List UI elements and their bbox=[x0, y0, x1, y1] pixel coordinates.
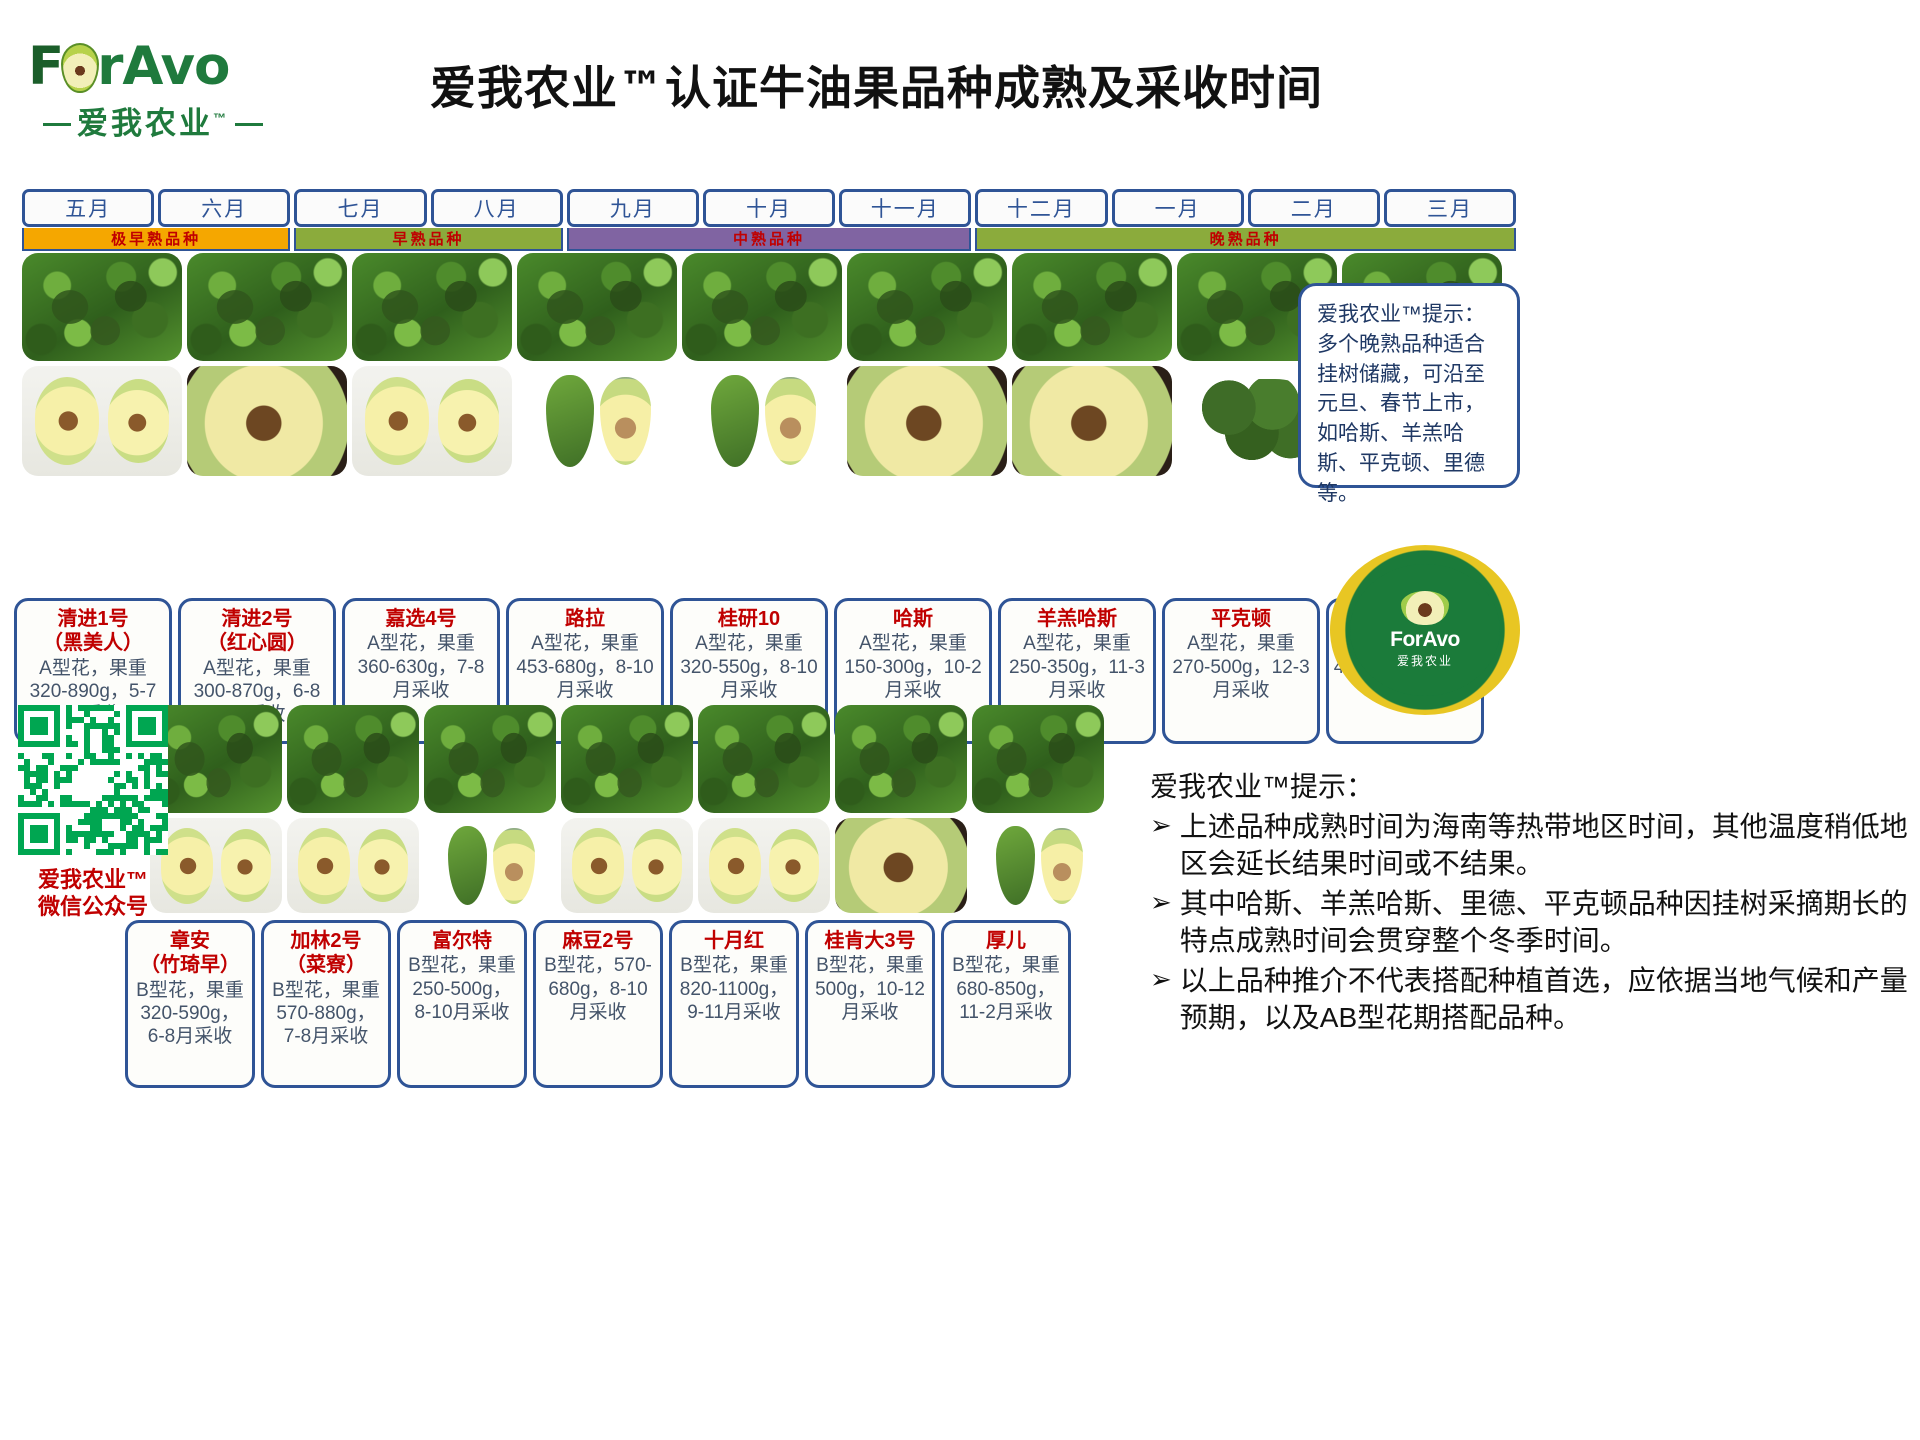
arrow-bullet-icon: ➢ bbox=[1150, 962, 1172, 1037]
variety-alias: （黑美人） bbox=[21, 631, 165, 655]
tree-photo-1 bbox=[150, 705, 282, 813]
arrow-bullet-icon: ➢ bbox=[1150, 885, 1172, 960]
variety-description: A型花，果重360-630g，7-8月采收 bbox=[349, 632, 493, 702]
infographic-page: FrAvo 爱我农业™ 爱我农业™认证牛油果品种成熟及采收时间 五月六月七月八月… bbox=[0, 0, 1920, 1440]
certification-seal: ForAvo 爱我农业 bbox=[1330, 545, 1520, 715]
variety-name: 厚儿 bbox=[948, 929, 1064, 953]
tree-photo-5 bbox=[698, 705, 830, 813]
row2-tree-photo-strip bbox=[150, 705, 1104, 813]
variety-description: B型花，果重680-850g，11-2月采收 bbox=[948, 954, 1064, 1024]
note-item: ➢上述品种成熟时间为海南等热带地区时间，其他温度稍低地区会延长结果时间或不结果。 bbox=[1150, 808, 1910, 883]
tree-photo-4 bbox=[517, 253, 677, 361]
variety-description: A型花，果重150-300g，10-2月采收 bbox=[841, 632, 985, 702]
rule-left-icon bbox=[43, 123, 71, 126]
variety-name: 路拉 bbox=[513, 607, 657, 631]
variety-name: 清进2号 bbox=[185, 607, 329, 631]
fruit-photo-1 bbox=[150, 818, 282, 913]
fruit-photo-5 bbox=[698, 818, 830, 913]
variety-name: 桂研10 bbox=[677, 607, 821, 631]
variety-description: B型花，果重320-590g，6-8月采收 bbox=[132, 979, 248, 1049]
variety-name: 加林2号 bbox=[268, 929, 384, 953]
variety-card[interactable]: 加林2号（菜寮）B型花，果重570-880g，7-8月采收 bbox=[261, 920, 391, 1088]
month-cell-1: 五月 bbox=[22, 189, 154, 227]
maturity-band-1: 极早熟品种 bbox=[22, 228, 290, 251]
variety-alias: （红心圆） bbox=[185, 631, 329, 655]
variety-alias: （竹琦早） bbox=[132, 953, 248, 977]
tree-photo-6 bbox=[847, 253, 1007, 361]
variety-card[interactable]: 章安（竹琦早）B型花，果重320-590g，6-8月采收 bbox=[125, 920, 255, 1088]
variety-name: 嘉选4号 bbox=[349, 607, 493, 631]
fruit-photo-4 bbox=[561, 818, 693, 913]
tree-photo-7 bbox=[1012, 253, 1172, 361]
tip-box-top: 爱我农业™提示：多个晚熟品种适合挂树储藏，可沿至元旦、春节上市，如哈斯、羊羔哈斯… bbox=[1298, 283, 1520, 488]
variety-alias: （菜寮） bbox=[268, 953, 384, 977]
fruit-photo-6 bbox=[847, 366, 1007, 476]
row1-fruit-photo-strip bbox=[22, 366, 1502, 476]
fruit-photo-6 bbox=[835, 818, 967, 913]
note-text: 其中哈斯、羊羔哈斯、里德、平克顿品种因挂树采摘期长的特点成熟时间会贯穿整个冬季时… bbox=[1180, 885, 1910, 960]
variety-description: B型花，570-680g，8-10月采收 bbox=[540, 954, 656, 1024]
qr-code-icon[interactable] bbox=[18, 705, 168, 855]
maturity-band-3: 中熟品种 bbox=[567, 228, 972, 251]
fruit-photo-4 bbox=[517, 366, 677, 476]
variety-name: 哈斯 bbox=[841, 607, 985, 631]
variety-description: B型花，果重570-880g，7-8月采收 bbox=[268, 979, 384, 1049]
brand-logo-wordmark: FrAvo bbox=[28, 38, 278, 96]
variety-description: B型花，果重820-1100g，9-11月采收 bbox=[676, 954, 792, 1024]
month-cell-11: 三月 bbox=[1384, 189, 1516, 227]
tree-photo-4 bbox=[561, 705, 693, 813]
brand-logo: FrAvo 爱我农业™ bbox=[28, 38, 278, 150]
fruit-photo-7 bbox=[1012, 366, 1172, 476]
tree-photo-6 bbox=[835, 705, 967, 813]
tree-photo-5 bbox=[682, 253, 842, 361]
fruit-photo-3 bbox=[424, 818, 556, 913]
variety-card[interactable]: 桂肯大3号B型花，果重500g，10-12月采收 bbox=[805, 920, 935, 1088]
page-title: 爱我农业™认证牛油果品种成熟及采收时间 bbox=[430, 52, 1580, 118]
qr-caption: 爱我农业™微信公众号 bbox=[18, 867, 168, 921]
fruit-photo-3 bbox=[352, 366, 512, 476]
month-header-row: 五月六月七月八月九月十月十一月十二月一月二月三月 bbox=[22, 189, 1516, 227]
row1-tree-photo-strip bbox=[22, 253, 1502, 361]
month-cell-9: 一月 bbox=[1112, 189, 1244, 227]
variety-card[interactable]: 富尔特B型花，果重250-500g，8-10月采收 bbox=[397, 920, 527, 1088]
month-cell-8: 十二月 bbox=[975, 189, 1107, 227]
row2-fruit-photo-strip bbox=[150, 818, 1104, 913]
variety-name: 麻豆2号 bbox=[540, 929, 656, 953]
notes-block: 爱我农业™提示： ➢上述品种成熟时间为海南等热带地区时间，其他温度稍低地区会延长… bbox=[1150, 768, 1910, 1039]
variety-name: 富尔特 bbox=[404, 929, 520, 953]
fruit-photo-2 bbox=[187, 366, 347, 476]
variety-name: 章安 bbox=[132, 929, 248, 953]
row2-variety-cards: 章安（竹琦早）B型花，果重320-590g，6-8月采收加林2号（菜寮）B型花，… bbox=[125, 920, 1071, 1088]
month-cell-3: 七月 bbox=[294, 189, 426, 227]
note-text: 以上品种推介不代表搭配种植首选，应依据当地气候和产量预期，以及AB型花期搭配品种… bbox=[1180, 962, 1910, 1037]
month-cell-2: 六月 bbox=[158, 189, 290, 227]
variety-name: 十月红 bbox=[676, 929, 792, 953]
arrow-bullet-icon: ➢ bbox=[1150, 808, 1172, 883]
month-cell-6: 十月 bbox=[703, 189, 835, 227]
maturity-band-row: 极早熟品种早熟品种中熟品种晚熟品种 bbox=[22, 228, 1516, 251]
variety-name: 羊羔哈斯 bbox=[1005, 607, 1149, 631]
variety-description: A型花，果重453-680g，8-10月采收 bbox=[513, 632, 657, 702]
variety-description: B型花，果重500g，10-12月采收 bbox=[812, 954, 928, 1024]
maturity-band-4: 晚熟品种 bbox=[975, 228, 1516, 251]
notes-heading: 爱我农业™提示： bbox=[1150, 768, 1910, 806]
variety-name: 清进1号 bbox=[21, 607, 165, 631]
tree-photo-1 bbox=[22, 253, 182, 361]
month-cell-7: 十一月 bbox=[839, 189, 971, 227]
tree-photo-2 bbox=[287, 705, 419, 813]
note-item: ➢以上品种推介不代表搭配种植首选，应依据当地气候和产量预期，以及AB型花期搭配品… bbox=[1150, 962, 1910, 1037]
fruit-photo-2 bbox=[287, 818, 419, 913]
fruit-photo-1 bbox=[22, 366, 182, 476]
month-cell-5: 九月 bbox=[567, 189, 699, 227]
variety-description: A型花，果重270-500g，12-3月采收 bbox=[1169, 632, 1313, 702]
tree-photo-3 bbox=[424, 705, 556, 813]
variety-name: 平克顿 bbox=[1169, 607, 1313, 631]
month-cell-4: 八月 bbox=[431, 189, 563, 227]
wechat-qr-block[interactable]: 爱我农业™微信公众号 bbox=[18, 705, 168, 921]
variety-description: A型花，果重250-350g，11-3月采收 bbox=[1005, 632, 1149, 702]
variety-card[interactable]: 平克顿A型花，果重270-500g，12-3月采收 bbox=[1162, 598, 1320, 744]
tree-photo-2 bbox=[187, 253, 347, 361]
variety-description: A型花，果重320-550g，8-10月采收 bbox=[677, 632, 821, 702]
maturity-band-2: 早熟品种 bbox=[294, 228, 562, 251]
brand-logo-chinese: 爱我农业™ bbox=[28, 98, 278, 143]
month-cell-10: 二月 bbox=[1248, 189, 1380, 227]
avocado-icon bbox=[61, 43, 99, 93]
tree-photo-3 bbox=[352, 253, 512, 361]
notes-list: ➢上述品种成熟时间为海南等热带地区时间，其他温度稍低地区会延长结果时间或不结果。… bbox=[1150, 808, 1910, 1037]
variety-name: 桂肯大3号 bbox=[812, 929, 928, 953]
avocado-icon bbox=[1401, 591, 1449, 625]
tree-photo-7 bbox=[972, 705, 1104, 813]
variety-card[interactable]: 十月红B型花，果重820-1100g，9-11月采收 bbox=[669, 920, 799, 1088]
note-item: ➢其中哈斯、羊羔哈斯、里德、平克顿品种因挂树采摘期长的特点成熟时间会贯穿整个冬季… bbox=[1150, 885, 1910, 960]
note-text: 上述品种成熟时间为海南等热带地区时间，其他温度稍低地区会延长结果时间或不结果。 bbox=[1180, 808, 1910, 883]
variety-card[interactable]: 厚儿B型花，果重680-850g，11-2月采收 bbox=[941, 920, 1071, 1088]
fruit-photo-7 bbox=[972, 818, 1104, 913]
rule-right-icon bbox=[235, 123, 263, 126]
fruit-photo-5 bbox=[682, 366, 842, 476]
variety-description: B型花，果重250-500g，8-10月采收 bbox=[404, 954, 520, 1024]
variety-card[interactable]: 麻豆2号B型花，570-680g，8-10月采收 bbox=[533, 920, 663, 1088]
seal-wordmark: ForAvo bbox=[1390, 628, 1460, 652]
seal-chinese: 爱我农业 bbox=[1397, 652, 1453, 669]
certification-seal-inner: ForAvo 爱我农业 bbox=[1350, 564, 1500, 696]
